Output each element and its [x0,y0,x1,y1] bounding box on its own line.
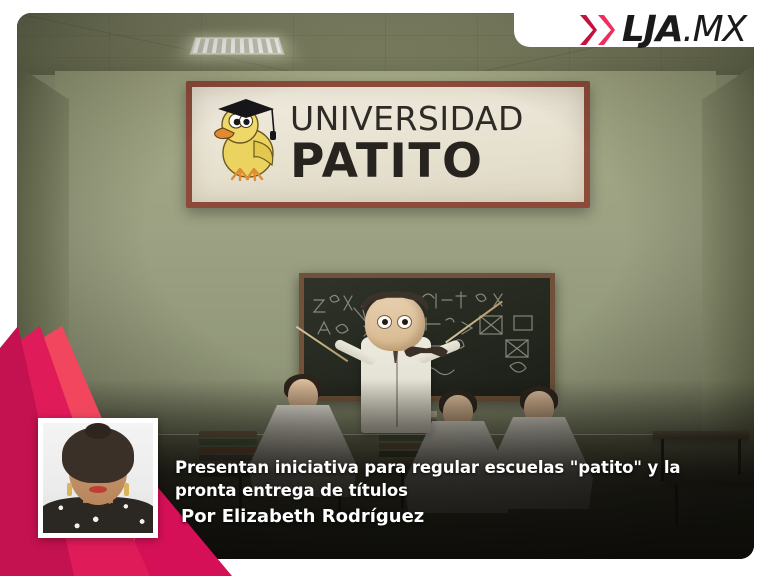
logo-text-secondary: .MX [682,9,746,50]
avatar-earring [67,483,72,496]
avatar-photo [43,423,153,533]
logo-wordmark: LJA.MX [622,12,746,48]
chevron-right-icon-dark [580,15,597,45]
author-avatar[interactable] [38,418,158,538]
avatar-earring [124,483,129,496]
logo-text-primary: LJA [622,9,683,50]
caption-byline: Por Elizabeth Rodríguez [175,506,710,528]
caption-title: Presentan iniciativa para regular escuel… [175,456,710,504]
chevron-right-icon-light [598,15,615,45]
lja-mx-logo[interactable]: LJA.MX [580,9,746,51]
caption-block: Presentan iniciativa para regular escuel… [175,456,710,528]
avatar-hair-bun [85,423,111,439]
avatar-lips [89,486,107,493]
article-card: UNIVERSIDAD PATITO [0,0,768,576]
chevron-pair-icon [580,15,615,45]
